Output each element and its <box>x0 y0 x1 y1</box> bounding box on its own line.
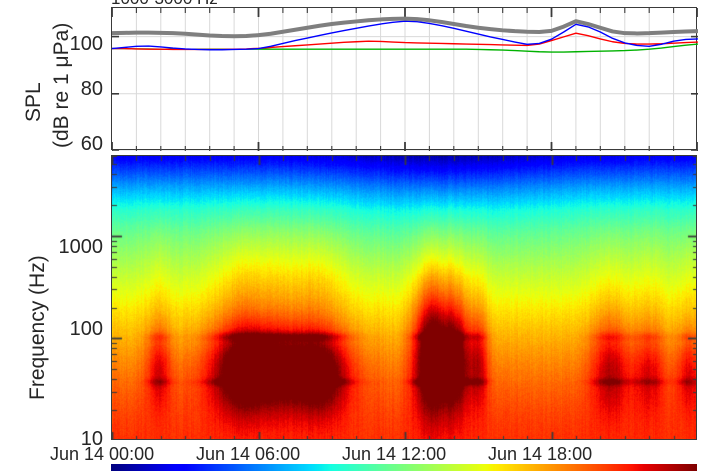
xtick-label-1: Jun 14 06:00 <box>196 444 300 465</box>
xtick-label-2: Jun 14 12:00 <box>342 444 446 465</box>
spl-ytick-100: 100 <box>48 33 103 56</box>
spl-series-svg <box>112 8 698 151</box>
spectrogram-canvas <box>112 156 697 440</box>
spectrogram-colorbar <box>111 464 697 471</box>
spl-ytick-60: 60 <box>48 133 103 156</box>
spectrogram <box>111 155 697 440</box>
acoustic-figure: 1000-3000 Hz SPL (dB re 1 μPa) 100 80 60… <box>0 0 710 473</box>
spec-ytick-100: 100 <box>38 318 103 341</box>
spl-ytick-80: 80 <box>48 78 103 101</box>
spec-ytick-1000: 1000 <box>38 236 103 259</box>
colorbar-canvas <box>111 464 697 471</box>
spl-line-chart <box>111 7 697 150</box>
xtick-label-3: Jun 14 18:00 <box>488 444 592 465</box>
spl-ylabel-line1: SPL <box>22 82 46 122</box>
xtick-label-0: Jun 14 00:00 <box>50 444 154 465</box>
